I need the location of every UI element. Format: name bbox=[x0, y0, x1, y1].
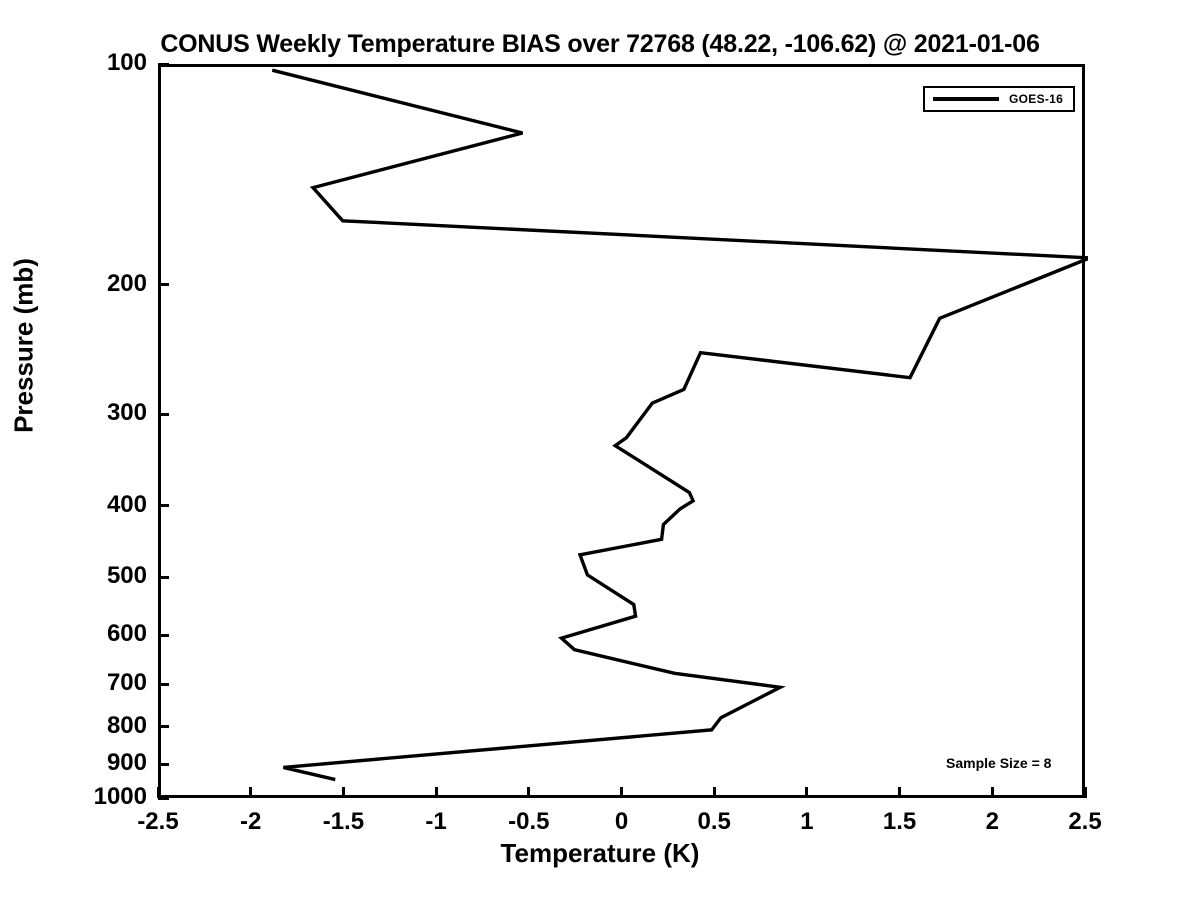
x-axis-label: Temperature (K) bbox=[0, 838, 1200, 869]
legend-label-goes-16: GOES-16 bbox=[1009, 92, 1063, 106]
y-tick-mark bbox=[158, 504, 169, 507]
y-tick-mark bbox=[158, 63, 169, 66]
x-tick-mark bbox=[620, 787, 623, 798]
y-tick-label-1000: 1000 bbox=[0, 783, 147, 811]
series-line-goes-16 bbox=[272, 70, 1088, 779]
y-tick-mark bbox=[158, 725, 169, 728]
x-tick-mark bbox=[527, 787, 530, 798]
x-tick-mark bbox=[713, 787, 716, 798]
x-tick-mark bbox=[1084, 787, 1087, 798]
x-tick-mark bbox=[898, 787, 901, 798]
y-tick-label-200: 200 bbox=[0, 270, 147, 298]
y-axis-label: Pressure (mb) bbox=[9, 176, 40, 516]
page-title: CONUS Weekly Temperature BIAS over 72768… bbox=[0, 30, 1200, 59]
y-tick-label-800: 800 bbox=[0, 712, 147, 740]
y-tick-label-300: 300 bbox=[0, 399, 147, 427]
y-tick-label-400: 400 bbox=[0, 491, 147, 519]
y-tick-label-500: 500 bbox=[0, 562, 147, 590]
y-tick-mark bbox=[158, 634, 169, 637]
y-tick-label-100: 100 bbox=[0, 49, 147, 77]
y-tick-mark bbox=[158, 797, 169, 800]
y-tick-label-700: 700 bbox=[0, 669, 147, 697]
data-plot bbox=[161, 67, 1088, 801]
sample-size-annotation: Sample Size = 8 bbox=[946, 755, 1051, 771]
x-tick-mark bbox=[249, 787, 252, 798]
y-tick-label-600: 600 bbox=[0, 620, 147, 648]
y-tick-label-900: 900 bbox=[0, 749, 147, 777]
x-tick-mark bbox=[342, 787, 345, 798]
y-tick-mark bbox=[158, 683, 169, 686]
x-tick-mark bbox=[157, 787, 160, 798]
y-tick-mark bbox=[158, 763, 169, 766]
figure-canvas: CONUS Weekly Temperature BIAS over 72768… bbox=[0, 0, 1200, 900]
x-tick-mark bbox=[435, 787, 438, 798]
legend-line-swatch bbox=[933, 97, 999, 101]
x-tick-mark bbox=[991, 787, 994, 798]
x-tick-mark bbox=[805, 787, 808, 798]
legend-box[interactable]: GOES-16 bbox=[923, 86, 1075, 112]
plot-area bbox=[158, 64, 1085, 798]
x-tick-label-2_5: 2.5 bbox=[1025, 808, 1145, 836]
y-tick-mark bbox=[158, 413, 169, 416]
y-tick-mark bbox=[158, 283, 169, 286]
y-tick-mark bbox=[158, 576, 169, 579]
